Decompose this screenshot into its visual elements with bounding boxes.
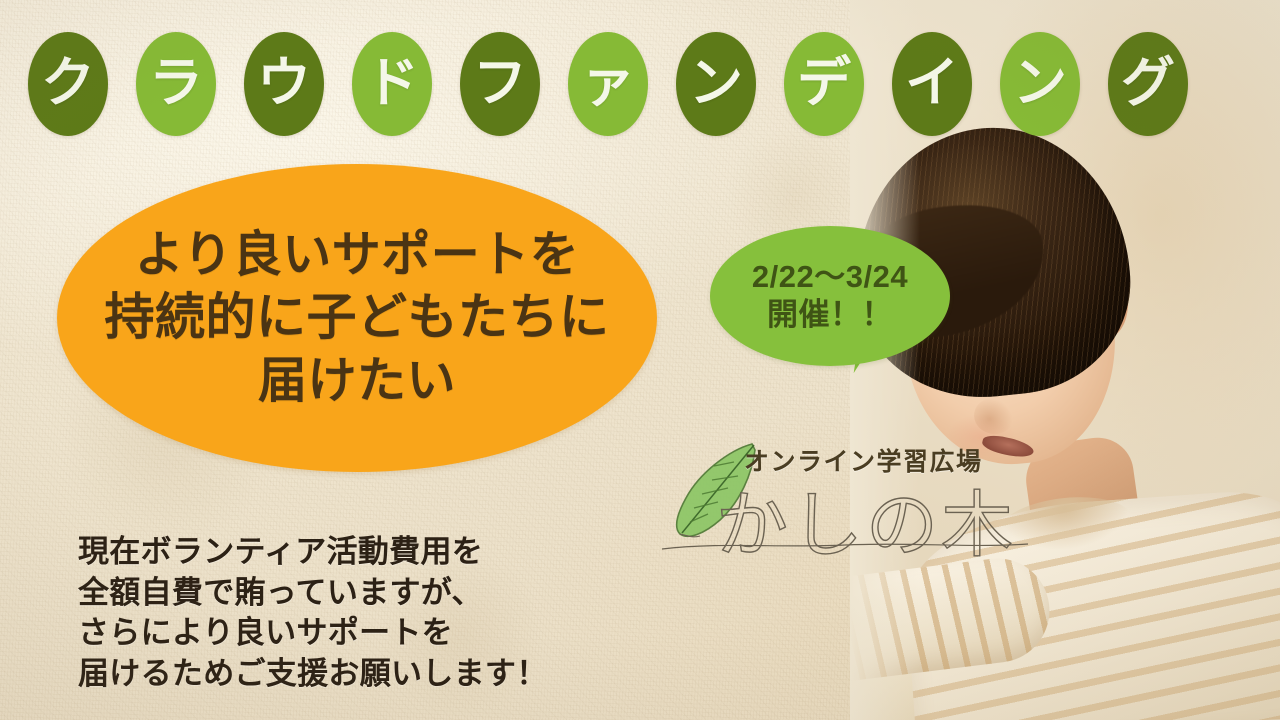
title-badge-4: フ — [460, 32, 540, 136]
title-badge-char: ァ — [581, 56, 635, 110]
title-badge-char: ラ — [149, 56, 203, 110]
title-badge-0: ク — [28, 32, 108, 136]
support-message-line-1: 現在ボランティア活動費用を — [78, 532, 698, 573]
kashinoki-logo: オンライン学習広場 かしの木 — [660, 434, 1030, 559]
title-badge-1: ラ — [136, 32, 216, 136]
title-badge-7: デ — [784, 32, 864, 136]
support-message: 現在ボランティア活動費用を 全額自費で賄っていますが、 さらにより良いサポートを… — [78, 532, 698, 694]
title-badge-char: デ — [797, 56, 851, 110]
crowdfunding-poster: ク ラ ウ ド フ ァ ン デ イ ン グ より良いサポートを 持続的に子どもた… — [0, 0, 1280, 720]
title-badge-char: ウ — [257, 56, 311, 110]
event-dates-line-1: 2/22〜3/24 — [752, 258, 908, 296]
title-badge-10: グ — [1108, 32, 1188, 136]
support-message-line-2: 全額自費で賄っていますが、 — [78, 573, 698, 614]
event-dates-speech-bubble: 2/22〜3/24 開催！！ — [710, 226, 950, 366]
title-badge-9: ン — [1000, 32, 1080, 136]
headline-line-1: より良いサポートを — [135, 224, 580, 286]
title-badge-char: グ — [1121, 56, 1175, 110]
title-badge-8: イ — [892, 32, 972, 136]
speech-bubble-body: 2/22〜3/24 開催！！ — [710, 226, 950, 366]
logo-ground-line — [660, 538, 1030, 554]
logo-name: かしの木 — [716, 466, 1016, 571]
headline-line-2: 持続的に子どもたちに — [105, 286, 610, 350]
headline-line-3: 届けたい — [258, 350, 456, 412]
event-dates-line-2: 開催！！ — [767, 296, 893, 334]
title-badge-5: ァ — [568, 32, 648, 136]
title-badge-2: ウ — [244, 32, 324, 136]
title-badge-6: ン — [676, 32, 756, 136]
headline-ellipse: より良いサポートを 持続的に子どもたちに 届けたい — [57, 164, 657, 472]
title-badge-char: フ — [473, 56, 527, 110]
title-badge-char: ン — [1013, 56, 1067, 110]
title-badge-char: ク — [41, 56, 95, 110]
title-badge-char: ド — [365, 56, 419, 110]
support-message-line-3: さらにより良いサポートを — [78, 613, 698, 654]
title-badge-char: ン — [689, 56, 743, 110]
support-message-line-4: 届けるためご支援お願いします！ — [78, 654, 698, 695]
title-badge-char: イ — [905, 56, 959, 110]
title-badge-row: ク ラ ウ ド フ ァ ン デ イ ン グ — [28, 28, 1258, 140]
title-badge-3: ド — [352, 32, 432, 136]
